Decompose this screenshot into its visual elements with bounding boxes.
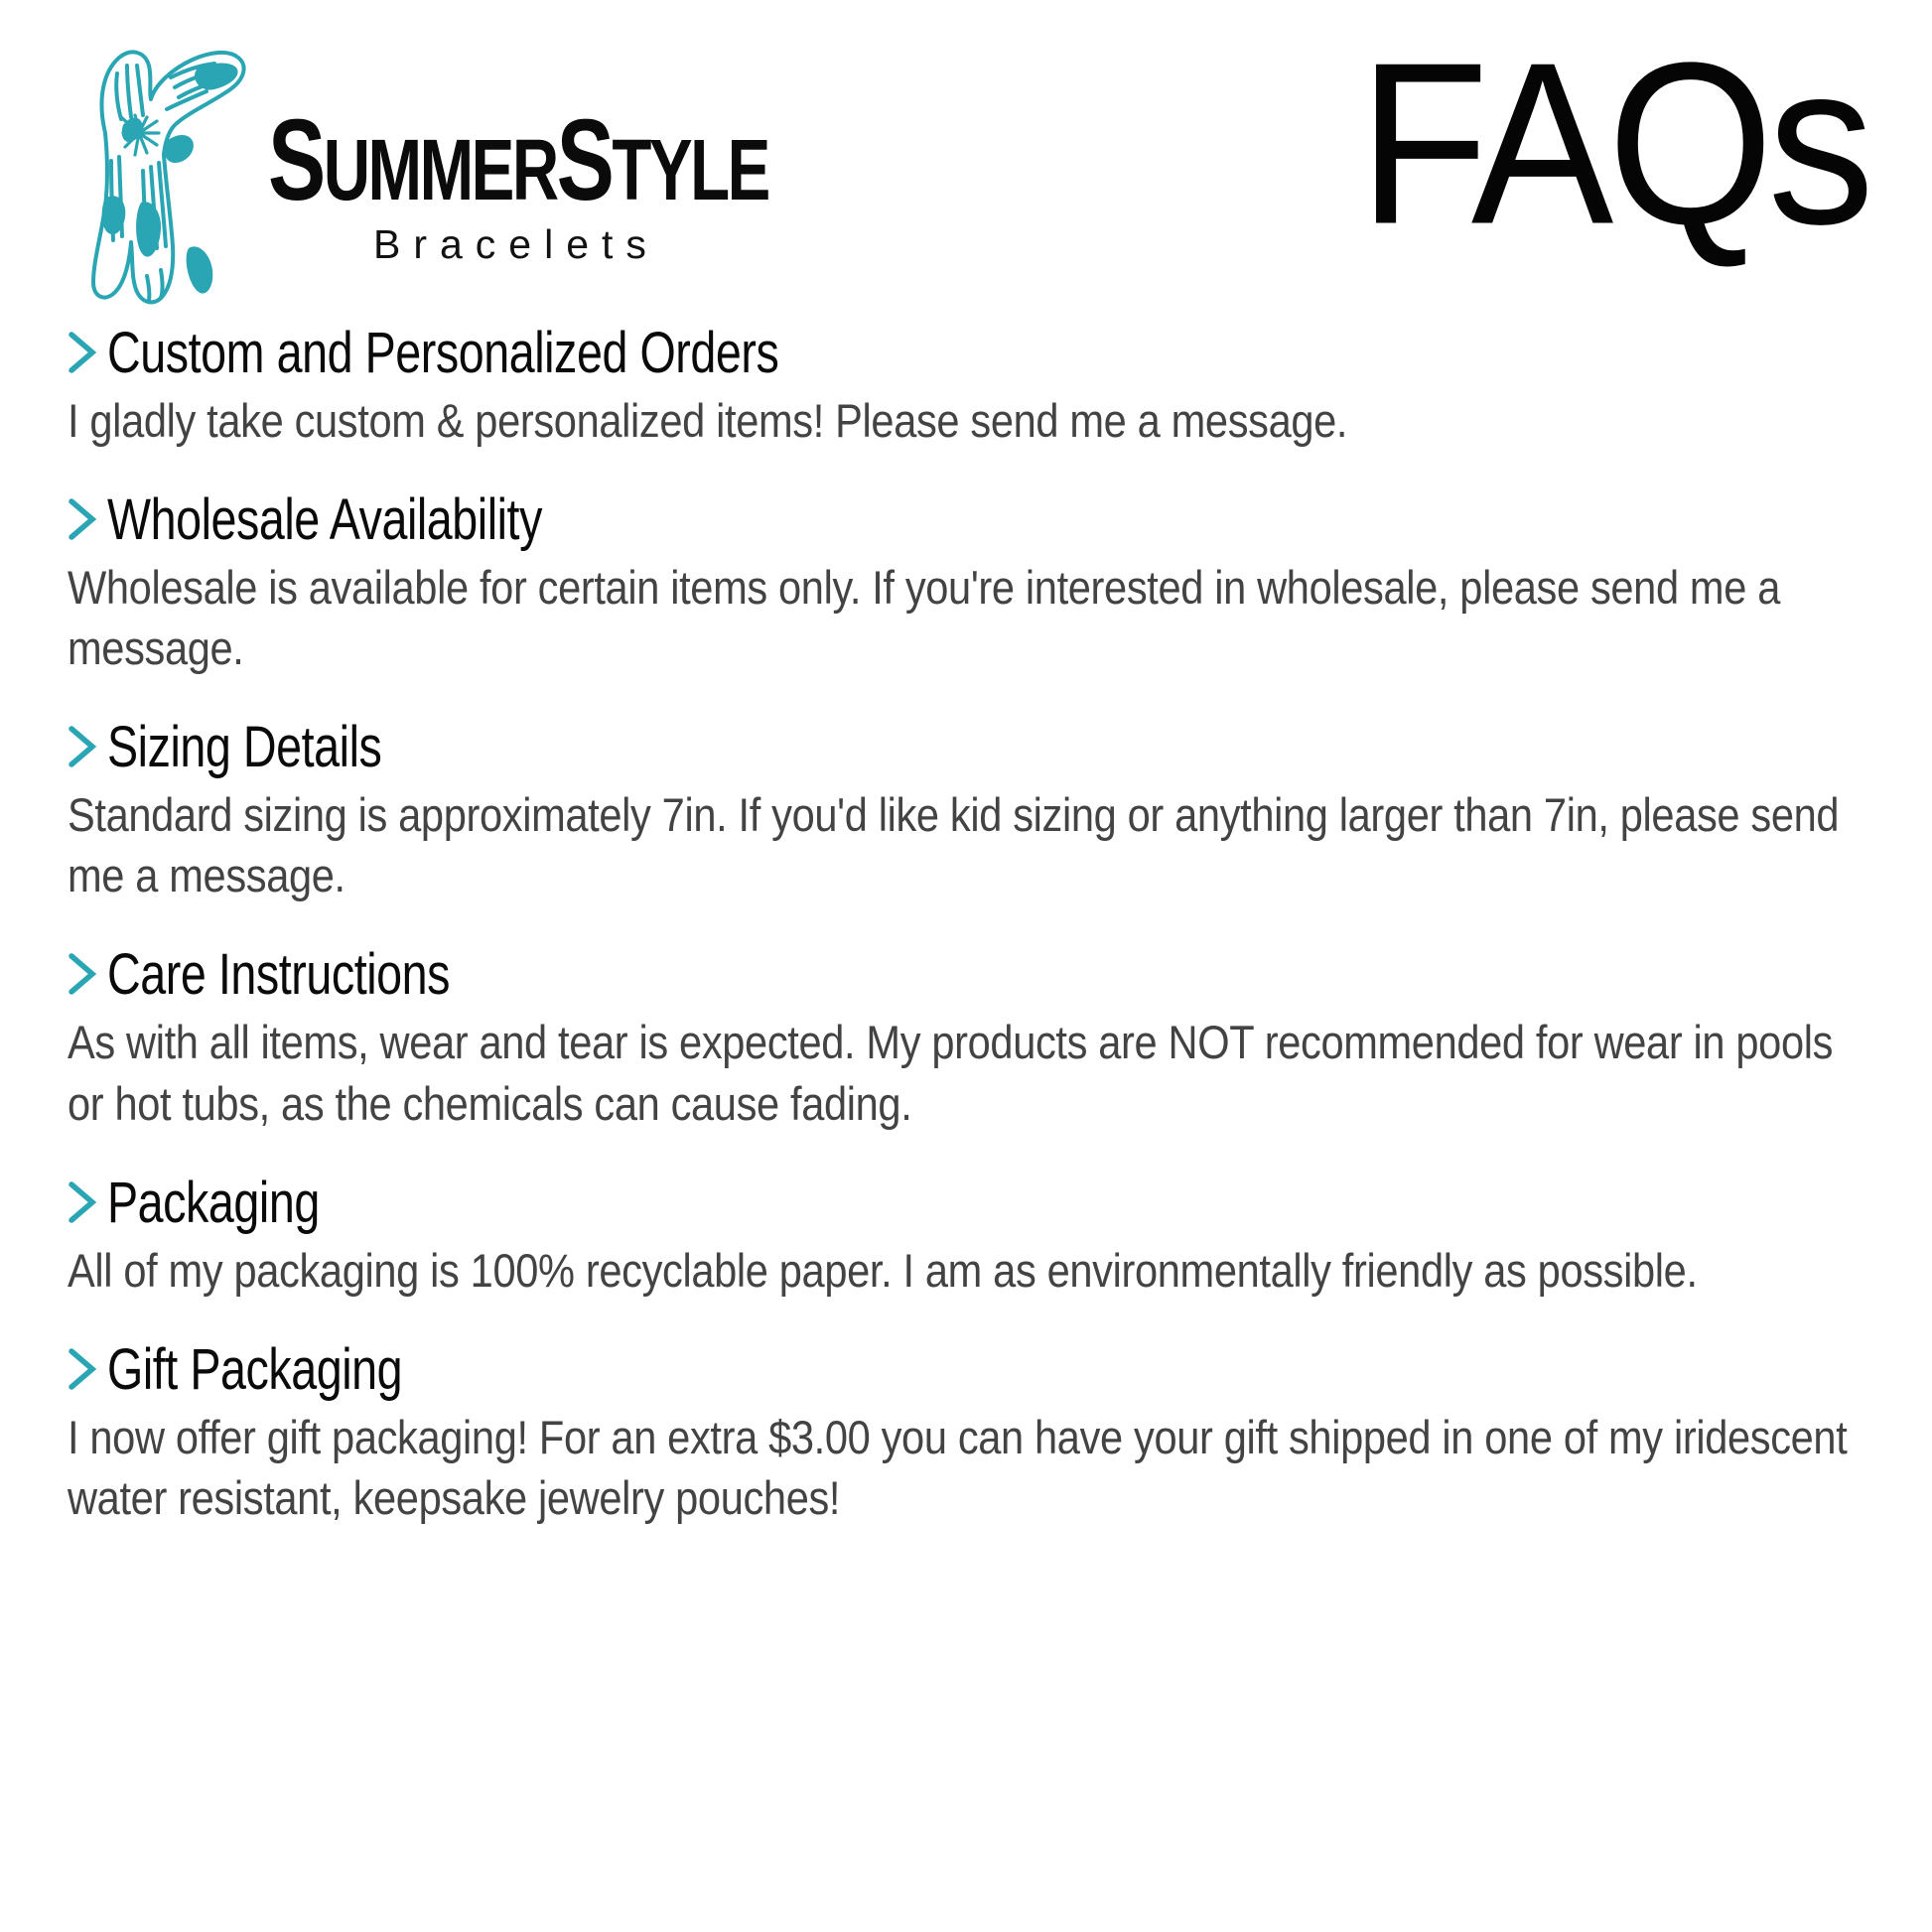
faq-heading-label: Custom and Personalized Orders xyxy=(107,325,778,382)
chevron-right-icon xyxy=(68,1179,97,1225)
faq-item-packaging: Packaging All of my packaging is 100% re… xyxy=(68,1177,1870,1301)
faq-body-text: All of my packaging is 100% recyclable p… xyxy=(68,1240,1870,1301)
faq-heading: Care Instructions xyxy=(68,949,1870,1004)
brand-wordmark: SUMMERSTYLE Bracelets xyxy=(268,117,864,268)
faq-heading: Custom and Personalized Orders xyxy=(68,328,1870,382)
faq-heading-label: Packaging xyxy=(107,1173,320,1231)
brand-name: SUMMERSTYLE xyxy=(268,112,768,211)
chevron-right-icon xyxy=(68,330,97,375)
faq-body-text: As with all items, wear and tear is expe… xyxy=(68,1012,1870,1133)
brand-name-ummer: UMMER xyxy=(324,121,557,219)
faq-body-text: Standard sizing is approximately 7in. If… xyxy=(68,784,1870,905)
brand-name-tyle: TYLE xyxy=(612,121,767,219)
faq-body-text: I now offer gift packaging! For an extra… xyxy=(68,1407,1870,1528)
chevron-right-icon xyxy=(68,724,97,769)
faq-item-sizing-details: Sizing Details Standard sizing is approx… xyxy=(68,722,1870,905)
faq-heading-label: Wholesale Availability xyxy=(107,491,542,549)
starfish-coral-icon xyxy=(71,22,260,310)
chevron-right-icon xyxy=(68,1346,97,1392)
brand-name-s2: S xyxy=(557,96,613,225)
brand-logo: SUMMERSTYLE Bracelets xyxy=(71,22,864,310)
faq-item-gift-packaging: Gift Packaging I now offer gift packagin… xyxy=(68,1344,1870,1528)
page-header: SUMMERSTYLE Bracelets FAQs xyxy=(0,0,1932,328)
faq-heading-label: Sizing Details xyxy=(107,719,381,776)
faq-heading: Wholesale Availability xyxy=(68,494,1870,549)
faq-body-text: Wholesale is available for certain items… xyxy=(68,557,1870,678)
faq-heading-label: Care Instructions xyxy=(107,946,450,1004)
faq-item-care-instructions: Care Instructions As with all items, wea… xyxy=(68,949,1870,1133)
chevron-right-icon xyxy=(68,951,97,997)
chevron-right-icon xyxy=(68,496,97,542)
faq-item-wholesale-availability: Wholesale Availability Wholesale is avai… xyxy=(68,494,1870,678)
faq-heading: Packaging xyxy=(68,1177,1870,1232)
faq-heading-label: Gift Packaging xyxy=(107,1340,402,1398)
brand-subtitle: Bracelets xyxy=(373,221,864,268)
faq-body-text: I gladly take custom & personalized item… xyxy=(68,390,1870,451)
brand-name-s1: S xyxy=(268,96,324,225)
faq-heading: Sizing Details xyxy=(68,722,1870,776)
faq-list: Custom and Personalized Orders I gladly … xyxy=(0,328,1932,1528)
faq-item-custom-and-personalized-orders: Custom and Personalized Orders I gladly … xyxy=(68,328,1870,451)
faq-page: SUMMERSTYLE Bracelets FAQs Custom and Pe… xyxy=(0,0,1932,1932)
page-title: FAQs xyxy=(1358,28,1868,258)
faq-heading: Gift Packaging xyxy=(68,1344,1870,1399)
